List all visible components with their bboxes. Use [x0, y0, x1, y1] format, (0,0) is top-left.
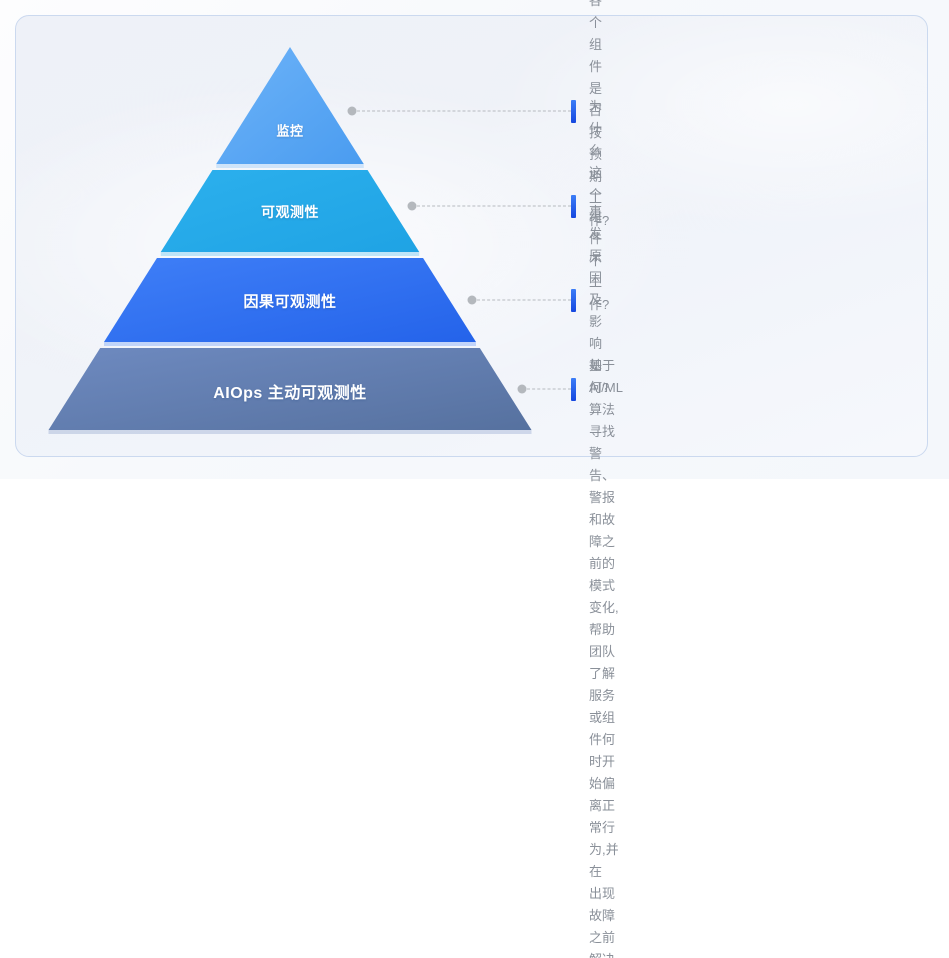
pyramid-tier-label-2: 可观测性 [261, 202, 319, 222]
pyramid-tier-label-4: AIOps 主动可观测性 [213, 379, 367, 403]
annotation-leader-line-1 [357, 111, 571, 112]
diagram-canvas: 监控可观测性因果可观测性AIOps 主动可观测性 各个组件是否按预期工作?为什么… [0, 0, 949, 479]
pyramid-tier-label-1: 监控 [276, 121, 303, 140]
pyramid-tier-label-3: 因果可观测性 [243, 291, 336, 312]
annotation-accent-bar-4 [571, 378, 576, 401]
annotation-accent-bar-3 [571, 289, 576, 312]
annotation-leader-line-3 [477, 300, 571, 301]
annotation-connector-dot-1 [348, 107, 357, 116]
panel-sheen [16, 16, 927, 456]
annotation-connector-dot-2 [408, 202, 417, 211]
annotation-text-4: 基于 AI/ML 算法寻找警告、警报和故障之前的模式变化, 帮助团队了解服务或组… [589, 355, 622, 958]
diagram-panel [15, 15, 928, 457]
annotation-connector-dot-4 [518, 385, 527, 394]
annotation-accent-bar-1 [571, 100, 576, 123]
annotation-leader-line-4 [527, 389, 571, 390]
annotation-leader-line-2 [417, 206, 571, 207]
annotation-connector-dot-3 [468, 296, 477, 305]
annotation-accent-bar-2 [571, 195, 576, 218]
